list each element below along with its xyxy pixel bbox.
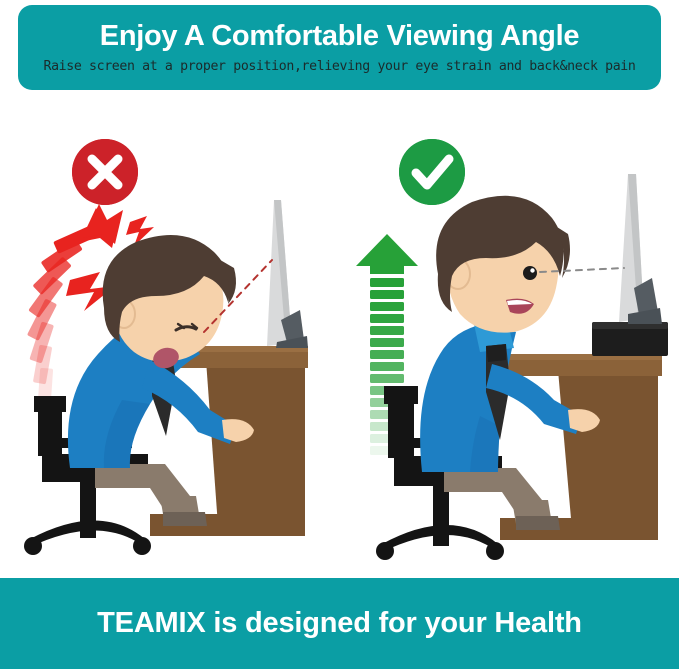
check-icon	[399, 139, 465, 205]
infographic-canvas: Enjoy A Comfortable Viewing Angle Raise …	[0, 0, 679, 669]
cross-badge	[72, 139, 138, 205]
footer-title: TEAMIX is designed for your Health	[97, 607, 582, 640]
footer-banner: TEAMIX is designed for your Health	[0, 578, 679, 669]
correct-posture-illustration	[340, 96, 679, 578]
page-title: Enjoy A Comfortable Viewing Angle	[100, 22, 579, 51]
check-badge	[399, 139, 465, 205]
incorrect-posture-illustration	[0, 96, 339, 578]
monitor	[619, 174, 662, 324]
header-banner: Enjoy A Comfortable Viewing Angle Raise …	[18, 5, 661, 90]
monitor-riser	[592, 322, 668, 356]
page-subtitle: Raise screen at a proper position,reliev…	[44, 60, 636, 73]
monitor	[267, 200, 308, 348]
